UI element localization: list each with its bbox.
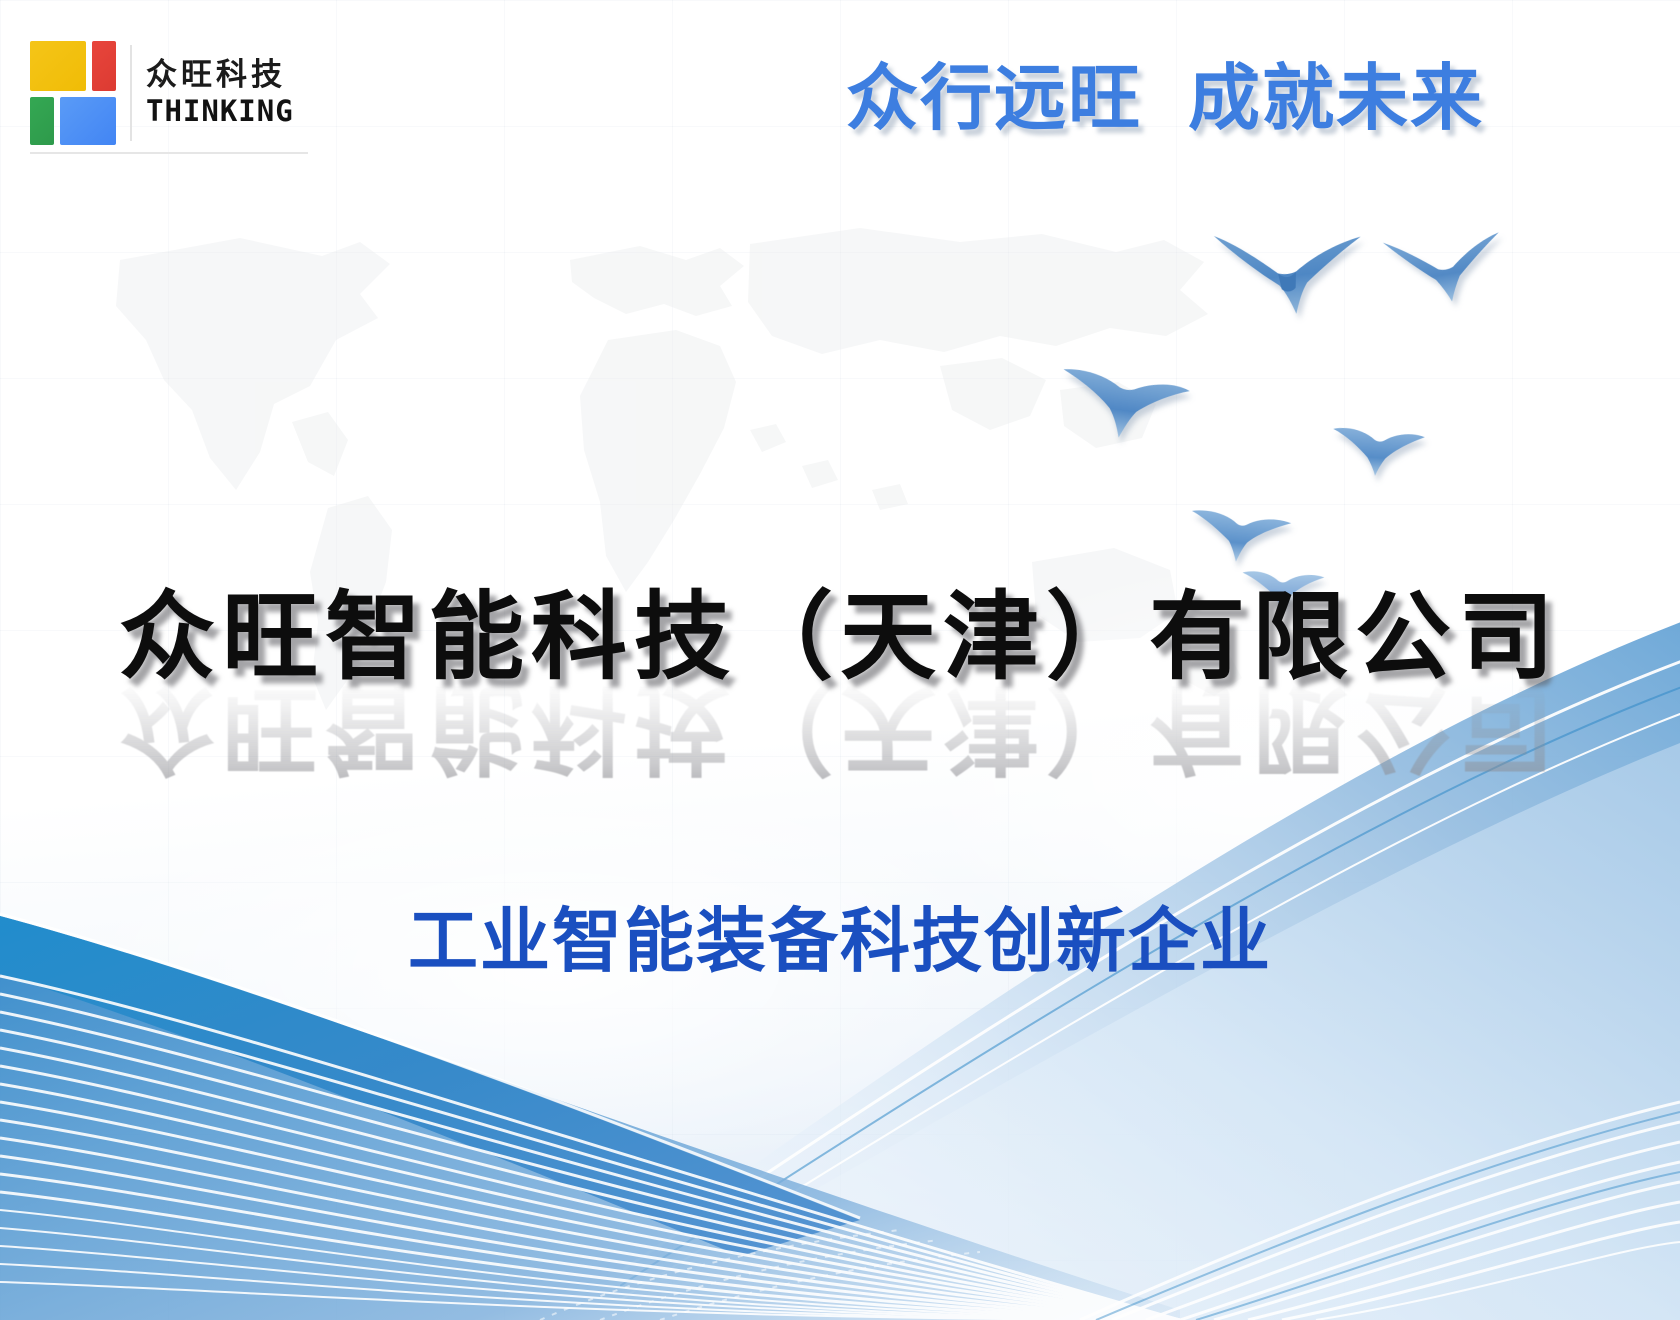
logo-wordmark: 众旺科技 THINKING xyxy=(146,60,294,126)
title-block: 众旺智能科技（天津）有限公司 众旺智能科技（天津）有限公司 xyxy=(0,586,1680,779)
company-logo[interactable]: 众旺科技 THINKING xyxy=(30,32,294,154)
logo-name-en: THINKING xyxy=(146,97,294,126)
page-subtitle: 工业智能装备科技创新企业 xyxy=(0,906,1680,976)
red-square-icon xyxy=(92,41,116,91)
yellow-square-icon xyxy=(30,41,86,91)
tagline-part-1: 众行远旺 xyxy=(846,56,1142,140)
page-title: 众旺智能科技（天津）有限公司 xyxy=(0,586,1680,690)
seagull-icon-5 xyxy=(1185,495,1295,570)
page-title-reflection: 众旺智能科技（天津）有限公司 xyxy=(0,676,1680,780)
logo-divider xyxy=(130,45,132,141)
seagull-icon-4 xyxy=(1328,415,1428,482)
seagull-icon-1 xyxy=(1207,214,1377,330)
four-square-logo-mark-icon xyxy=(30,41,122,145)
decorative-line-fan-right xyxy=(960,990,1680,1320)
blue-square-icon xyxy=(60,97,116,145)
header-tagline: 众行远旺成就未来 xyxy=(846,62,1484,134)
logo-name-cn: 众旺科技 xyxy=(146,60,294,91)
green-square-icon xyxy=(30,97,54,145)
cover-slide: 众旺科技 THINKING 众行远旺成就未来 众旺智能科技（天津）有限公司 众旺… xyxy=(0,0,1680,1320)
logo-underline xyxy=(30,152,308,154)
tagline-part-2: 成就未来 xyxy=(1188,56,1484,140)
